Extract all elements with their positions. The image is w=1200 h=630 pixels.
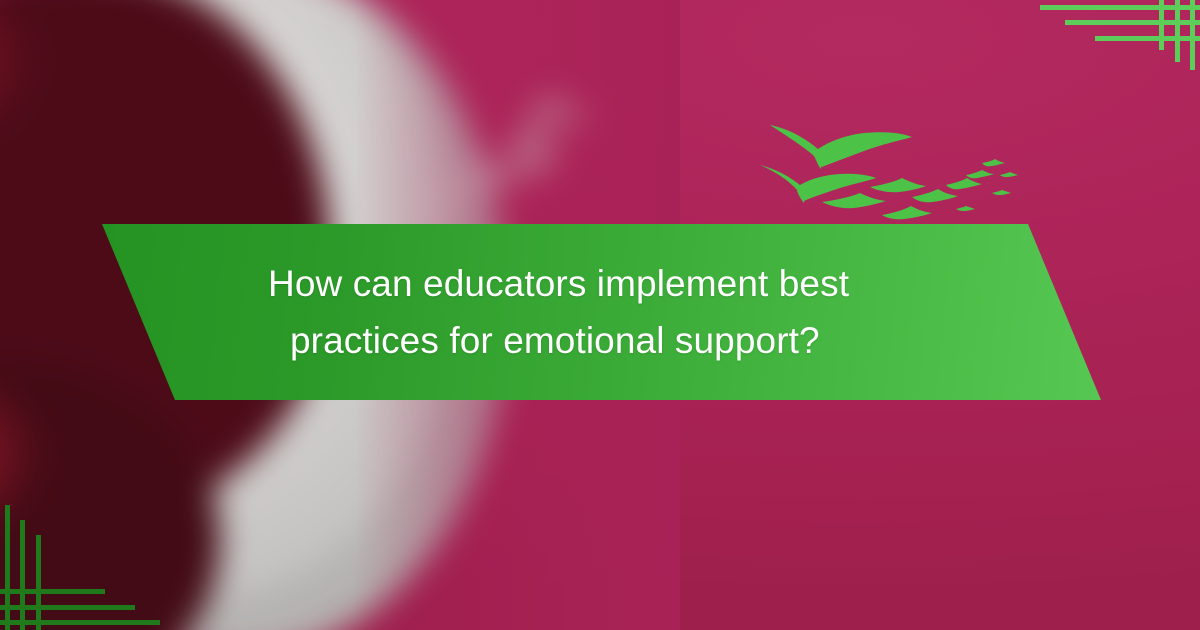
birds-icon — [760, 105, 1020, 230]
corner-bracket-bottom-left — [0, 500, 160, 630]
headline-line-1: How can educators implement best — [268, 255, 968, 312]
headline-line-2: practices for emotional support? — [290, 312, 968, 369]
headline-text-block: How can educators implement best practic… — [268, 224, 968, 400]
corner-bracket-top-right — [1040, 0, 1200, 120]
poster-canvas: How can educators implement best practic… — [0, 0, 1200, 630]
headline-banner: How can educators implement best practic… — [0, 224, 1200, 400]
flying-birds-flock — [760, 105, 1020, 230]
